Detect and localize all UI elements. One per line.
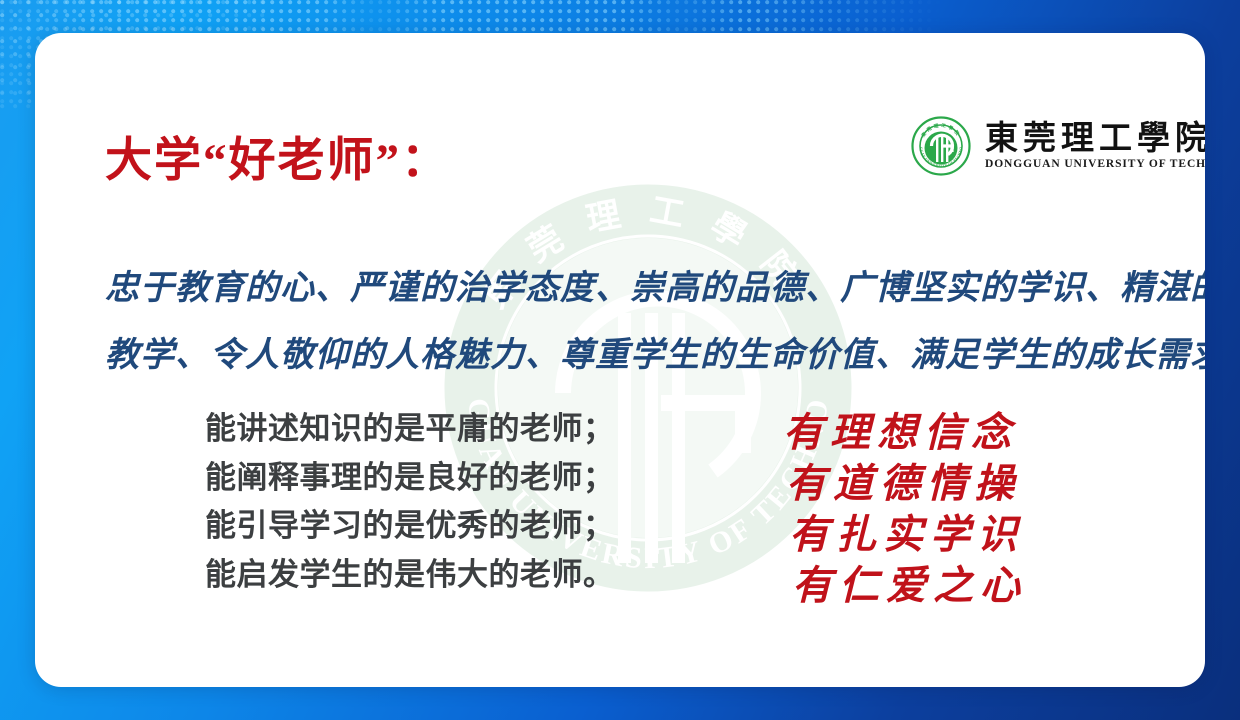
university-logo: 東莞理工學院 DONGGUAN UNIVERSITY OF TECHNOLOGY… (910, 115, 1205, 177)
four-haves-item-3: 有扎实学识 (783, 509, 1027, 560)
teacher-level-item-3: 能引导学习的是优秀的老师； (205, 502, 615, 551)
teacher-level-item-2: 能阐释事理的是良好的老师； (205, 454, 615, 503)
page-title: 大学“好老师”： (105, 121, 450, 190)
four-haves-list: 有理想信念 有道德情操 有扎实学识 有仁爱之心 (783, 407, 1027, 611)
university-name-block: 東莞理工學院 DONGGUAN UNIVERSITY OF TECHNOLOGY (985, 122, 1205, 171)
four-haves-item-1: 有理想信念 (783, 407, 1027, 458)
university-name-en: DONGGUAN UNIVERSITY OF TECHNOLOGY (985, 158, 1205, 170)
university-name-cn: 東莞理工學院 (985, 122, 1205, 157)
statement-line-1: 忠于教育的心、严谨的治学态度、崇高的品德、广博坚实的学识、精湛的 (105, 255, 1195, 322)
teacher-levels-list: 能讲述知识的是平庸的老师； 能阐释事理的是良好的老师； 能引导学习的是优秀的老师… (205, 405, 615, 599)
four-haves-item-4: 有仁爱之心 (783, 560, 1027, 611)
teacher-level-item-4: 能启发学生的是伟大的老师。 (205, 551, 615, 600)
university-emblem-icon: 東莞理工學院 DONGGUAN UNIVERSITY OF TECHNOLOGY (910, 115, 972, 177)
statement-line-2: 教学、令人敬仰的人格魅力、尊重学生的生命价值、满足学生的成长需求。 (105, 322, 1195, 389)
statement-block: 忠于教育的心、严谨的治学态度、崇高的品德、广博坚实的学识、精湛的 教学、令人敬仰… (105, 255, 1195, 389)
four-haves-item-2: 有道德情操 (783, 458, 1027, 509)
slide-root: DONGGUAN UNIVERSITY OF TECHNOLOGY 東莞理工學院… (0, 0, 1240, 720)
teacher-level-item-1: 能讲述知识的是平庸的老师； (205, 405, 615, 454)
content-card: DONGGUAN UNIVERSITY OF TECHNOLOGY 東莞理工學院… (35, 33, 1205, 687)
